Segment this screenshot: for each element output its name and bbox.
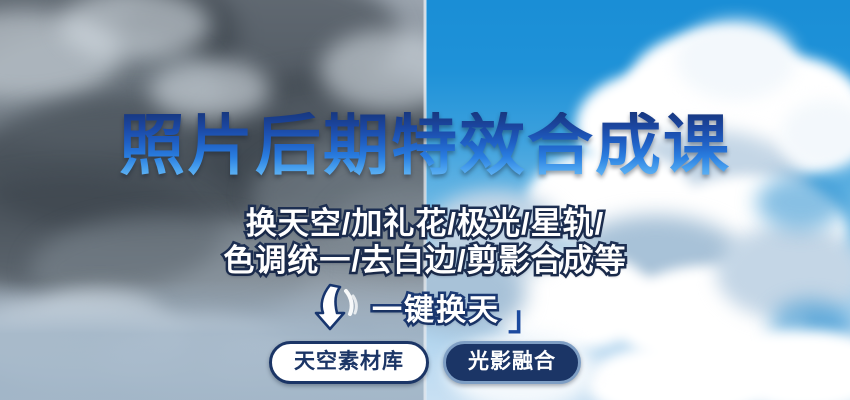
corner-bracket-icon: 」: [508, 291, 542, 340]
curved-down-arrow-icon: [308, 279, 364, 335]
sky-replacement-course-banner: 照片后期特效合成课 照片后期特效合成课 换天空/加礼花/极光/星轨/ 色调统一/…: [0, 0, 850, 400]
one-click-sky-row: 一键换天 」: [0, 278, 850, 336]
banner-title-text: 照片后期特效合成课: [119, 112, 731, 178]
feature-badges: 天空素材库 光影融合: [0, 341, 850, 384]
badge-sky-asset-library: 天空素材库: [269, 341, 429, 384]
banner-title: 照片后期特效合成课 照片后期特效合成课: [0, 112, 850, 178]
one-click-sky-label: 一键换天: [372, 285, 500, 329]
badge-light-shadow-blend: 光影融合: [443, 341, 581, 384]
banner-subtitle-line-2: 色调统一/去白边/剪影合成等: [0, 235, 850, 280]
